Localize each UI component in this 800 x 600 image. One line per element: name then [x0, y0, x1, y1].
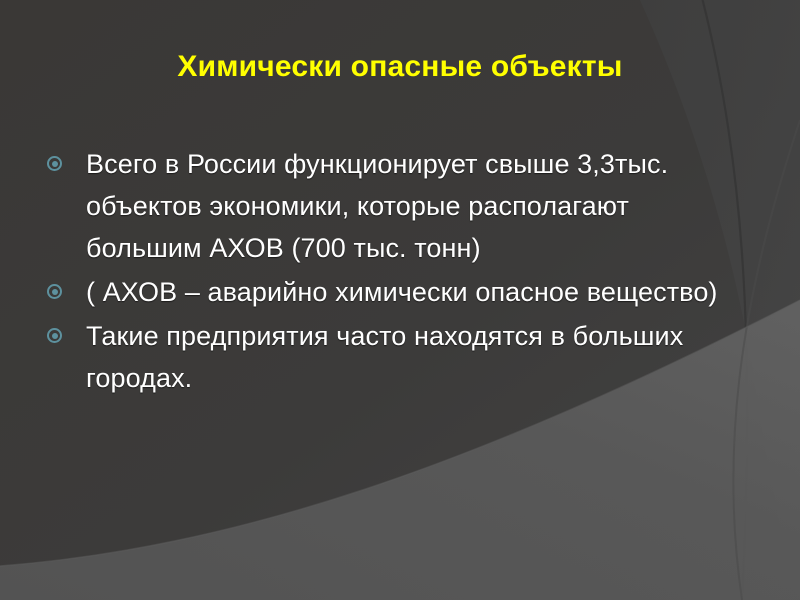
- slide-title-text: Химически опасные объекты: [177, 48, 622, 86]
- ring-dot-bullet-icon: [47, 328, 62, 343]
- bullet-list-item-text: ( АХОВ – аварийно химически опасное веще…: [86, 271, 720, 313]
- bullet-list-item: Такие предприятия часто находятся в боль…: [40, 315, 720, 399]
- bullet-list-item-text: Всего в России функционирует свыше 3,3ты…: [86, 143, 720, 269]
- bullet-list-item: ( АХОВ – аварийно химически опасное веще…: [40, 271, 720, 313]
- slide-title: Химически опасные объекты: [0, 48, 800, 86]
- background-arc-line-secondary: [733, 120, 800, 600]
- bullet-list-item-text: Такие предприятия часто находятся в боль…: [86, 315, 720, 399]
- bullet-list-item: Всего в России функционирует свыше 3,3ты…: [40, 143, 720, 269]
- ring-dot-bullet-icon: [47, 156, 62, 171]
- slide-body-content: Всего в России функционирует свыше 3,3ты…: [40, 143, 720, 401]
- presentation-slide: Химически опасные объекты Всего в России…: [0, 0, 800, 600]
- ring-dot-bullet-icon: [47, 284, 62, 299]
